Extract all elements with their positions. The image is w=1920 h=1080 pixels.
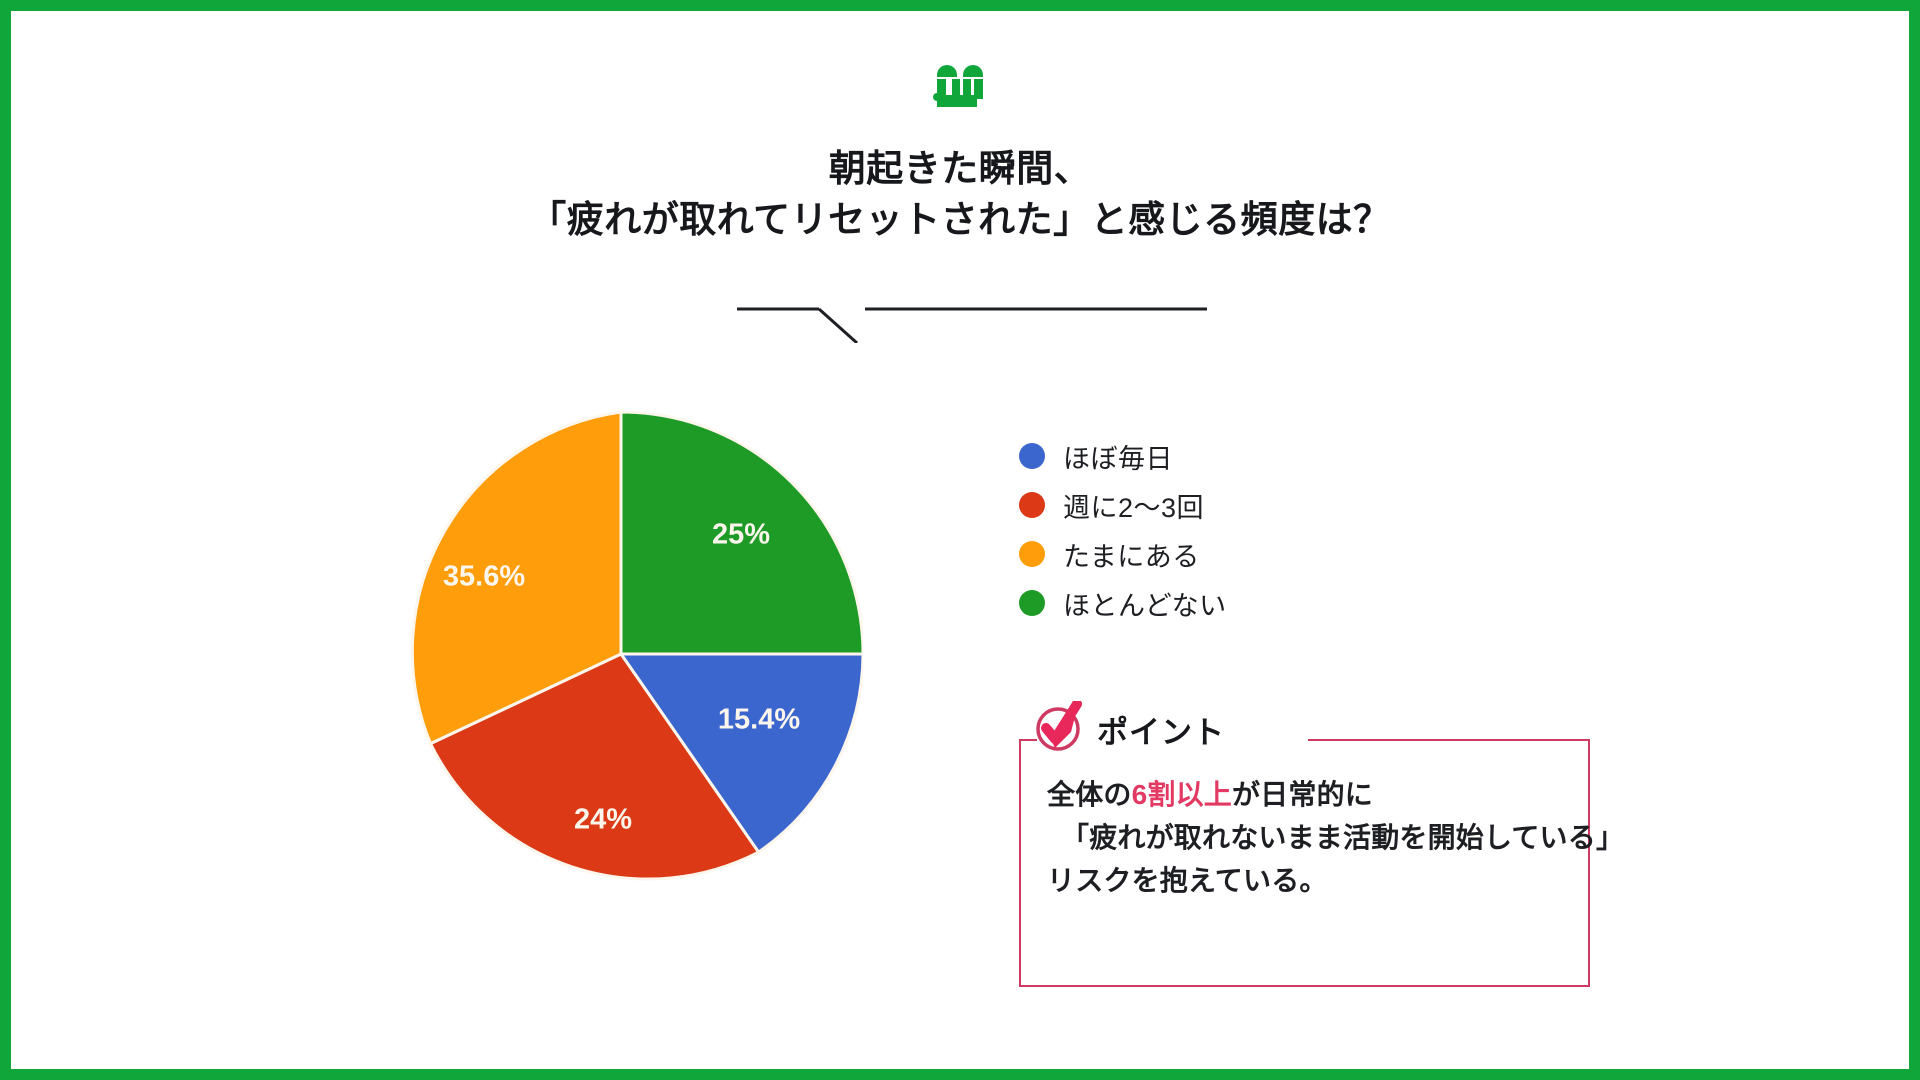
green-frame: 朝起きた瞬間、 「疲れが取れてリセットされた」と感じる頻度は？	[0, 0, 1920, 1080]
point-callout-box: ポイント 全体の6割以上が日常的に 「疲れが取れないまま活動を開始している」 リ…	[1019, 741, 1590, 987]
title-line-2: 「疲れが取れてリセットされた」と感じる頻度は？	[11, 194, 1909, 245]
pie-label-hotondo-nai: 25%	[712, 519, 770, 551]
legend-item-label: 週に2〜3回	[1063, 486, 1204, 525]
chart-legend: ほぼ毎日 週に2〜3回 たまにある ほとんどない	[1019, 439, 1227, 620]
legend-swatch-icon	[1019, 492, 1045, 518]
pie-label-shu-ni-2-3-kai: 24%	[574, 804, 632, 836]
legend-item-label: ほとんどない	[1063, 584, 1227, 623]
legend-item-label: ほぼ毎日	[1063, 437, 1173, 476]
slide-canvas: 朝起きた瞬間、 「疲れが取れてリセットされた」と感じる頻度は？	[11, 11, 1909, 1069]
point-line-1-pre: 全体の	[1047, 779, 1132, 810]
legend-swatch-icon	[1019, 590, 1045, 616]
brand-logo	[11, 55, 1909, 113]
legend-item-shu-ni-2-3-kai[interactable]: 週に2〜3回	[1019, 488, 1227, 522]
pie-label-tamani-aru: 35.6%	[443, 561, 525, 593]
legend-item-hobo-mainichi[interactable]: ほぼ毎日	[1019, 439, 1227, 473]
point-line-2: 「疲れが取れないまま活動を開始している」	[1047, 816, 1657, 859]
legend-swatch-icon	[1019, 541, 1045, 567]
legend-swatch-icon	[1019, 443, 1045, 469]
point-line-1-post: が日常的に	[1232, 779, 1373, 810]
pie-label-hobo-mainichi: 15.4%	[718, 704, 800, 736]
point-title: ポイント	[1097, 707, 1225, 752]
point-line-1-highlight: 6割以上	[1132, 779, 1232, 810]
page-title: 朝起きた瞬間、 「疲れが取れてリセットされた」と感じる頻度は？	[11, 143, 1909, 245]
legend-item-hotondo-nai[interactable]: ほとんどない	[1019, 586, 1227, 620]
angled-rule-divider	[737, 297, 1207, 343]
point-header: ポイント	[1033, 699, 1225, 759]
point-line-3: リスクを抱えている。	[1047, 859, 1657, 902]
point-body-text: 全体の6割以上が日常的に 「疲れが取れないまま活動を開始している」 リスクを抱え…	[1047, 773, 1657, 902]
check-circle-icon	[1033, 701, 1085, 758]
legend-item-label: たまにある	[1063, 535, 1200, 574]
title-line-1: 朝起きた瞬間、	[11, 143, 1909, 194]
point-line-1: 全体の6割以上が日常的に	[1047, 773, 1657, 816]
book-logo-icon	[931, 55, 989, 113]
legend-item-tamani-aru[interactable]: たまにある	[1019, 537, 1227, 571]
pie-chart: 25% 15.4% 24% 35.6%	[379, 411, 863, 897]
